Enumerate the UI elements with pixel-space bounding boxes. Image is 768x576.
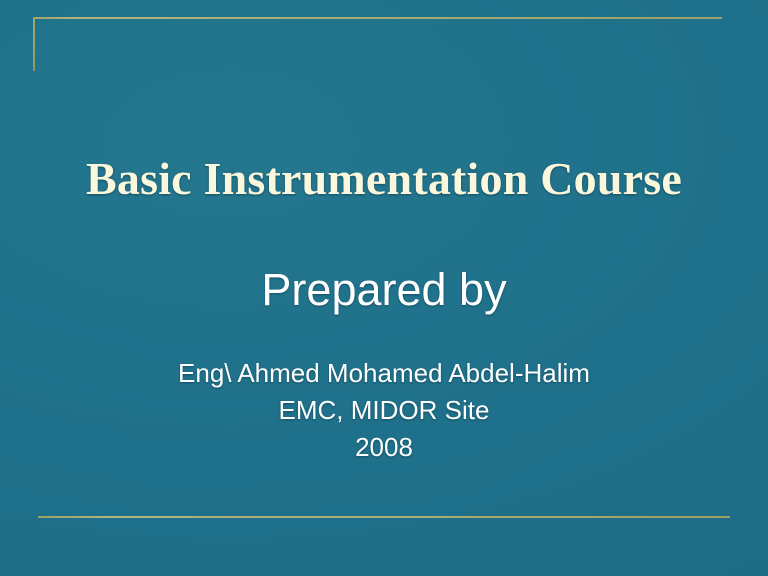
credits-block: Eng\ Ahmed Mohamed Abdel-Halim EMC, MIDO… bbox=[0, 355, 768, 466]
corner-bracket-vertical-rule bbox=[33, 17, 35, 71]
credit-line-author: Eng\ Ahmed Mohamed Abdel-Halim bbox=[0, 355, 768, 392]
corner-bracket-horizontal-rule bbox=[33, 17, 722, 19]
credit-line-year: 2008 bbox=[0, 429, 768, 466]
footer-horizontal-rule bbox=[38, 516, 730, 518]
slide-title: Basic Instrumentation Course bbox=[0, 151, 768, 207]
slide-subtitle: Prepared by bbox=[0, 263, 768, 317]
credit-line-organization: EMC, MIDOR Site bbox=[0, 392, 768, 429]
title-slide: Basic Instrumentation Course Prepared by… bbox=[0, 0, 768, 576]
